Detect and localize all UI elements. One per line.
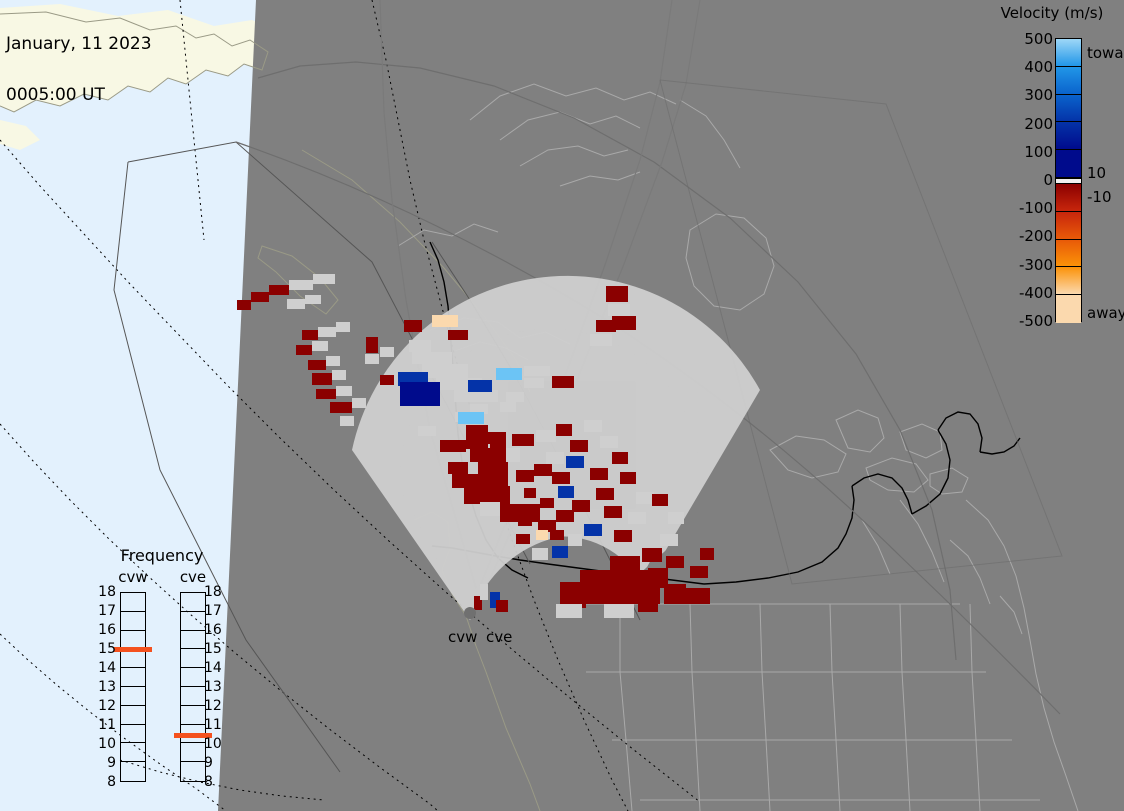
frequency-cell — [181, 649, 205, 668]
colorbar-upper-threshold-label: 10 — [1087, 164, 1106, 182]
frequency-tick-label: 14 — [96, 660, 116, 676]
colorbar-tick-label: 0 — [1001, 171, 1053, 189]
colorbar-title: Velocity (m/s) — [980, 4, 1124, 22]
frequency-tick-label: 8 — [96, 774, 116, 790]
frequency-tick-label: 11 — [204, 717, 224, 733]
frequency-tick-label: 9 — [204, 755, 224, 771]
frequency-column-header-cvw: cvw — [110, 568, 156, 586]
frequency-tick-label: 17 — [96, 603, 116, 619]
frequency-ticks-cve: 18171615141312111098 — [204, 592, 224, 782]
colorbar-tick-label: 500 — [1001, 30, 1053, 48]
frequency-legend: Frequency cvw18171615141312111098cve1817… — [92, 546, 232, 786]
date-label: January, 11 2023 — [6, 36, 152, 53]
frequency-cell — [121, 668, 145, 687]
frequency-cell — [181, 706, 205, 725]
time-label: 0005:00 UT — [6, 87, 152, 104]
colorbar-band-toward — [1056, 39, 1081, 67]
colorbar-away-label: away — [1087, 304, 1124, 322]
frequency-cell — [121, 612, 145, 631]
colorbar-lower-threshold-label: -10 — [1087, 188, 1112, 206]
radar-map-view: January, 11 2023 0005:00 UT cvw cve Velo… — [0, 0, 1124, 811]
site-label-cvw: cvw — [448, 628, 477, 646]
colorbar-tick-label: -400 — [1001, 284, 1053, 302]
frequency-tick-label: 18 — [204, 584, 224, 600]
frequency-cell — [121, 725, 145, 744]
frequency-cell — [121, 706, 145, 725]
frequency-cell — [121, 649, 145, 668]
frequency-cell — [181, 687, 205, 706]
colorbar-tick-label: -300 — [1001, 256, 1053, 274]
colorbar-tick-label: -100 — [1001, 199, 1053, 217]
frequency-tick-label: 13 — [204, 679, 224, 695]
frequency-cell — [181, 743, 205, 762]
frequency-box-cve — [180, 592, 206, 782]
frequency-tick-label: 14 — [204, 660, 224, 676]
colorbar-band-away — [1056, 240, 1081, 268]
colorbar-band-toward — [1056, 122, 1081, 150]
frequency-tick-label: 12 — [96, 698, 116, 714]
colorbar-tick-label: 400 — [1001, 58, 1053, 76]
frequency-tick-label: 15 — [204, 641, 224, 657]
timestamp-block: January, 11 2023 0005:00 UT — [6, 2, 152, 138]
colorbar-band-toward — [1056, 150, 1081, 178]
frequency-tick-label: 10 — [204, 736, 224, 752]
colorbar-band-away — [1056, 295, 1081, 323]
frequency-tick-label: 12 — [204, 698, 224, 714]
colorbar-tick-label: -500 — [1001, 312, 1053, 330]
frequency-tick-label: 8 — [204, 774, 224, 790]
frequency-box-cvw — [120, 592, 146, 782]
colorbar-band-toward — [1056, 67, 1081, 95]
frequency-title: Frequency — [92, 546, 232, 565]
frequency-cell — [121, 593, 145, 612]
colorbar-tick-label: -200 — [1001, 227, 1053, 245]
frequency-tick-label: 18 — [96, 584, 116, 600]
frequency-tick-label: 16 — [204, 622, 224, 638]
radar-site-dot — [464, 607, 476, 619]
colorbar-toward-label: toward — [1087, 44, 1124, 62]
colorbar-tick-label: 200 — [1001, 115, 1053, 133]
frequency-tick-label: 16 — [96, 622, 116, 638]
colorbar-ticks: 5004003002001000-100-200-300-400-500 — [993, 38, 1053, 322]
frequency-cell — [121, 743, 145, 762]
frequency-cell — [181, 668, 205, 687]
frequency-cell — [121, 762, 145, 781]
velocity-colorbar: Velocity (m/s) 5004003002001000-100-200-… — [975, 0, 1124, 340]
frequency-cell — [181, 612, 205, 631]
frequency-tick-label: 9 — [96, 755, 116, 771]
frequency-ticks-cvw: 18171615141312111098 — [96, 592, 116, 782]
colorbar-band-toward — [1056, 95, 1081, 123]
frequency-cell — [121, 687, 145, 706]
frequency-tick-label: 10 — [96, 736, 116, 752]
frequency-marker-cvw — [114, 647, 152, 652]
frequency-cell — [181, 762, 205, 781]
colorbar-strip — [1055, 38, 1082, 322]
colorbar-band-away — [1056, 267, 1081, 295]
colorbar-tick-label: 100 — [1001, 143, 1053, 161]
frequency-cell — [181, 631, 205, 650]
frequency-tick-label: 17 — [204, 603, 224, 619]
frequency-tick-label: 11 — [96, 717, 116, 733]
colorbar-tick-label: 300 — [1001, 86, 1053, 104]
colorbar-band-away — [1056, 212, 1081, 240]
colorbar-band-away — [1056, 184, 1081, 212]
frequency-tick-label: 13 — [96, 679, 116, 695]
frequency-cell — [181, 593, 205, 612]
site-label-cve: cve — [486, 628, 512, 646]
frequency-tick-label: 15 — [96, 641, 116, 657]
